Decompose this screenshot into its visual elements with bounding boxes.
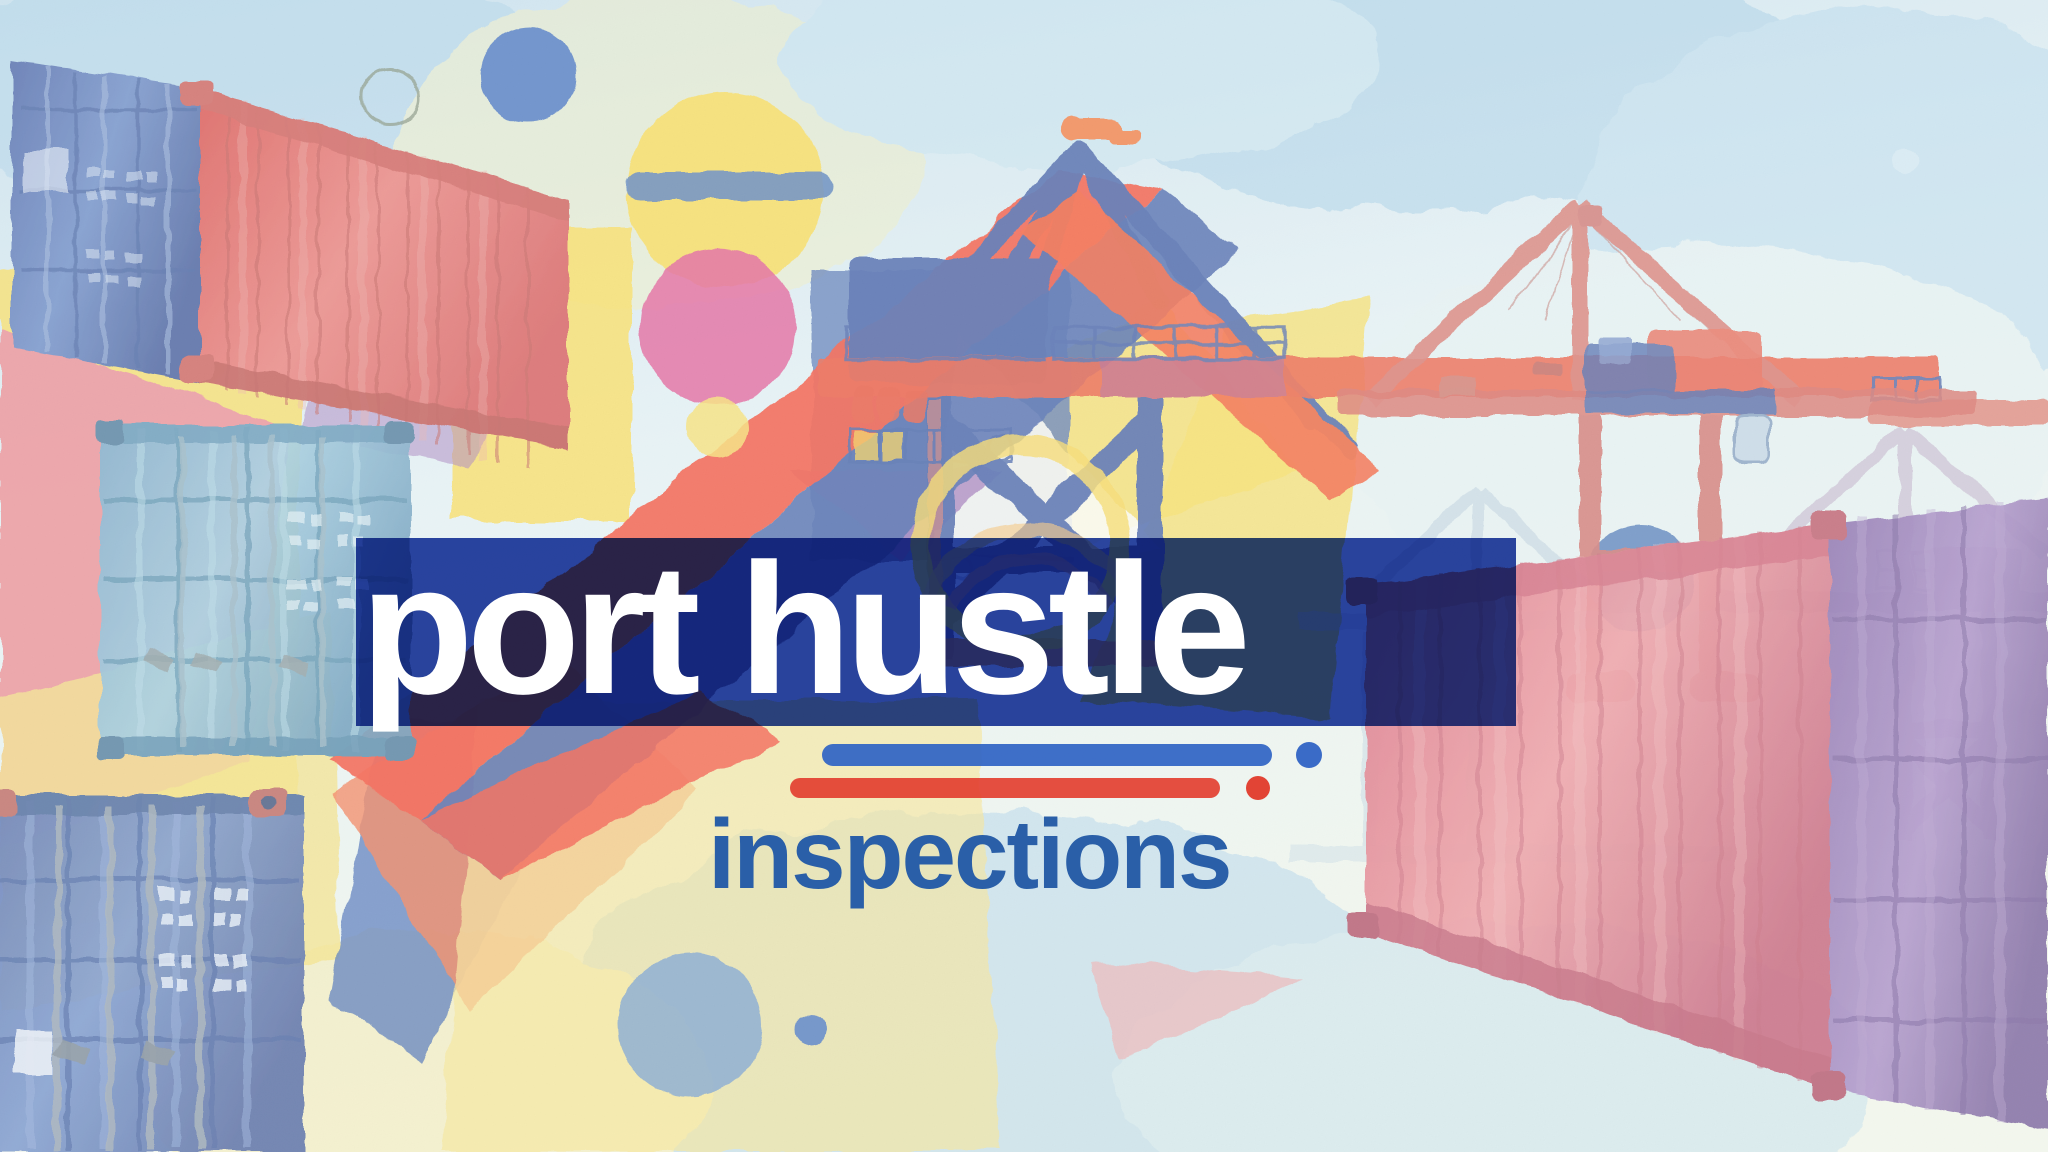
- port-hustle-banner: port hustle inspections: [0, 0, 2048, 1152]
- scene-artwork: [0, 0, 2048, 1152]
